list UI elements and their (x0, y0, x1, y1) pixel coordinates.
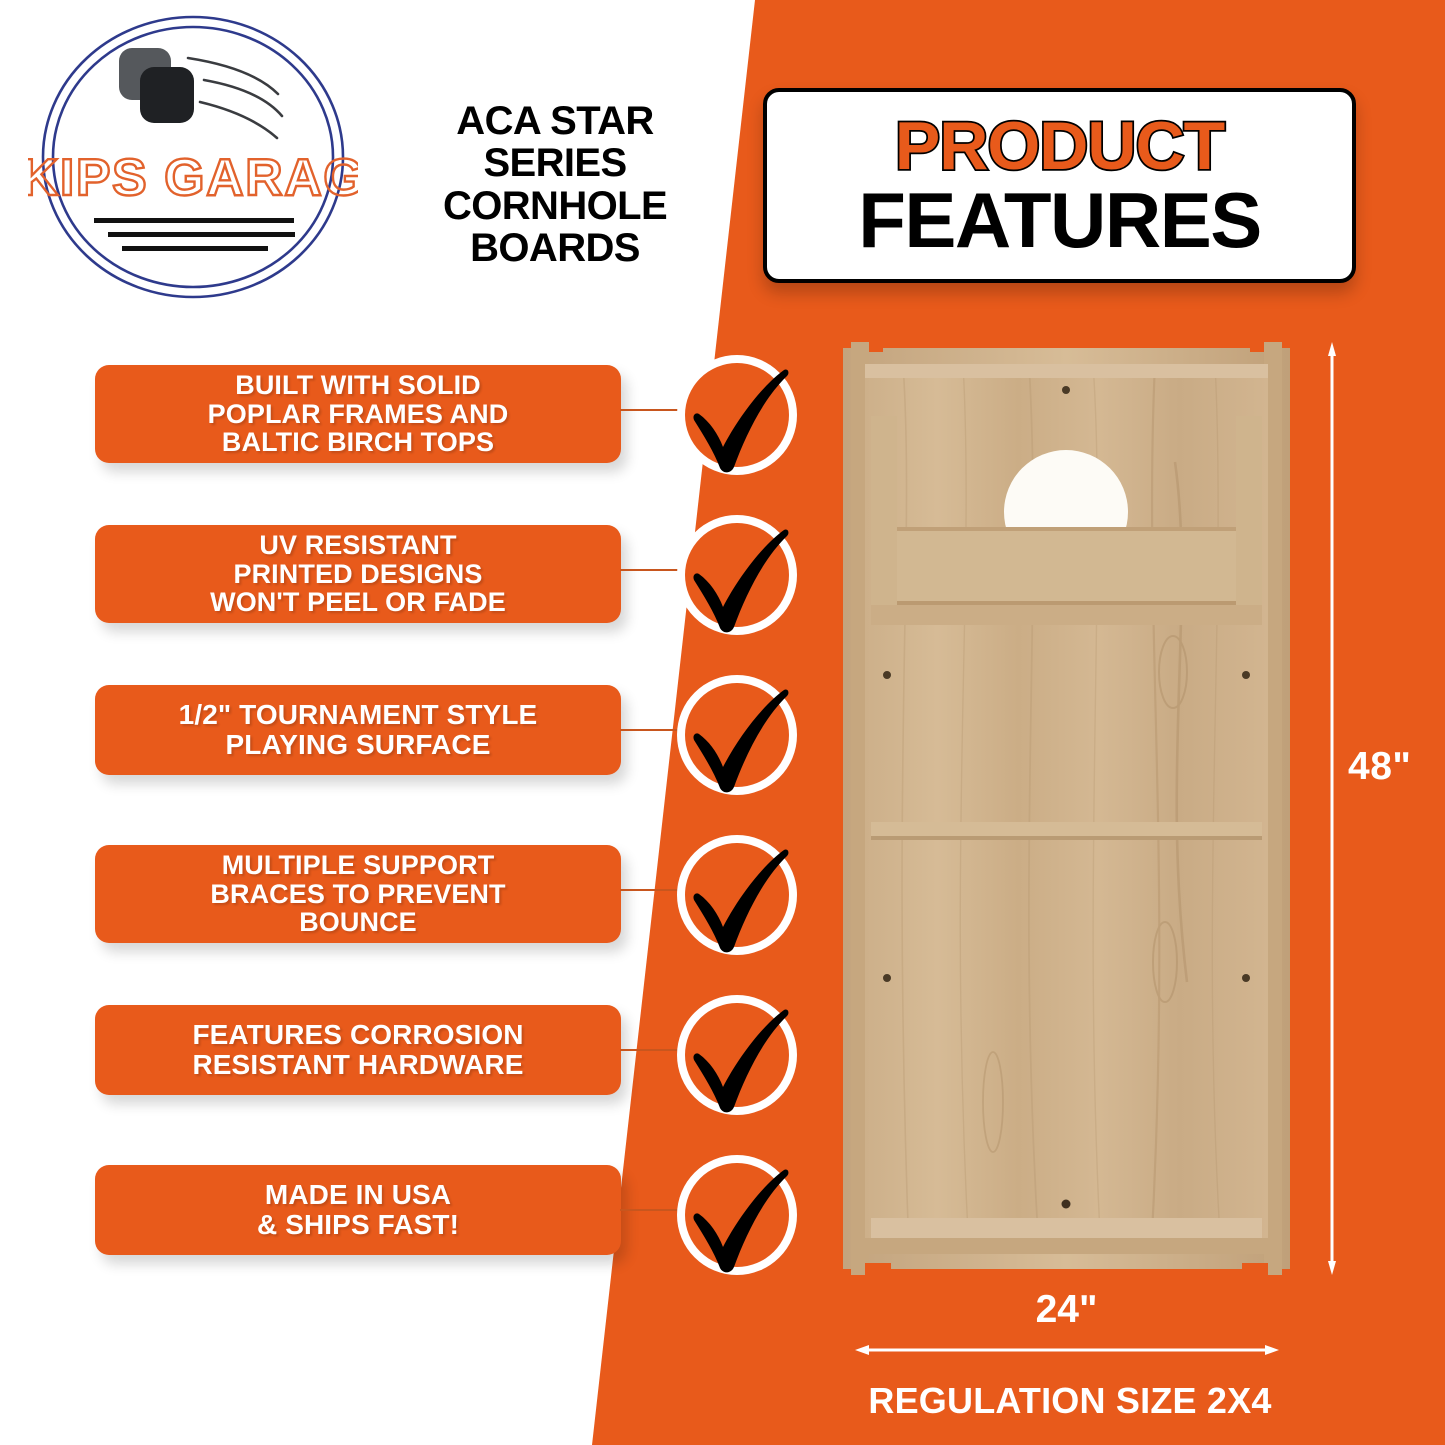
feature-row: FEATURES CORROSIONRESISTANT HARDWARE (0, 996, 830, 1104)
feature-row: MULTIPLE SUPPORTBRACES TO PREVENTBOUNCE (0, 836, 830, 944)
product-title-line-2: SERIES (395, 142, 715, 184)
cornhole-board-image (843, 342, 1290, 1275)
feature-pill[interactable]: MADE IN USA& SHIPS FAST! (95, 1165, 621, 1255)
feature-label: MULTIPLE SUPPORTBRACES TO PREVENTBOUNCE (210, 851, 505, 937)
height-dimension-label: 48" (1348, 745, 1411, 789)
feature-label: BUILT WITH SOLIDPOPLAR FRAMES ANDBALTIC … (208, 371, 509, 457)
product-title-line-4: BOARDS (395, 227, 715, 269)
width-dimension-arrow (855, 1345, 1279, 1355)
feature-row: UV RESISTANTPRINTED DESIGNSWON'T PEEL OR… (0, 516, 830, 624)
feature-row: BUILT WITH SOLIDPOPLAR FRAMES ANDBALTIC … (0, 356, 830, 464)
infographic-canvas: SKIPS GARAGE ACA STAR SERIES CORNHOLE BO… (0, 0, 1445, 1445)
feature-pill[interactable]: FEATURES CORROSIONRESISTANT HARDWARE (95, 1005, 621, 1095)
feature-pill[interactable]: 1/2" TOURNAMENT STYLEPLAYING SURFACE (95, 685, 621, 775)
feature-row: MADE IN USA& SHIPS FAST! (0, 1156, 830, 1264)
feature-label: FEATURES CORROSIONRESISTANT HARDWARE (192, 1020, 523, 1079)
product-title-line-3: CORNHOLE (395, 185, 715, 227)
feature-label: 1/2" TOURNAMENT STYLEPLAYING SURFACE (179, 700, 538, 759)
product-title: ACA STAR SERIES CORNHOLE BOARDS (395, 100, 715, 270)
svg-text:SKIPS GARAGE: SKIPS GARAGE (28, 149, 358, 207)
product-features-header: PRODUCT FEATURES (763, 88, 1356, 283)
check-icon (674, 352, 800, 478)
header-line-product: PRODUCT (895, 113, 1224, 180)
feature-pill[interactable]: BUILT WITH SOLIDPOPLAR FRAMES ANDBALTIC … (95, 365, 621, 463)
skips-garage-logo: SKIPS GARAGE (28, 10, 358, 305)
check-icon (674, 512, 800, 638)
height-dimension-arrow (1328, 342, 1336, 1275)
check-icon (674, 1152, 800, 1278)
feature-label: UV RESISTANTPRINTED DESIGNSWON'T PEEL OR… (210, 531, 506, 617)
check-icon (674, 832, 800, 958)
feature-pill[interactable]: MULTIPLE SUPPORTBRACES TO PREVENTBOUNCE (95, 845, 621, 943)
product-title-line-1: ACA STAR (395, 100, 715, 142)
feature-pill[interactable]: UV RESISTANTPRINTED DESIGNSWON'T PEEL OR… (95, 525, 621, 623)
width-dimension-label: 24" (843, 1288, 1290, 1332)
feature-label: MADE IN USA& SHIPS FAST! (257, 1180, 459, 1239)
check-icon (674, 672, 800, 798)
header-line-features: FEATURES (858, 182, 1261, 258)
check-icon (674, 992, 800, 1118)
regulation-size-caption: REGULATION SIZE 2X4 (820, 1380, 1320, 1422)
feature-row: 1/2" TOURNAMENT STYLEPLAYING SURFACE (0, 676, 830, 784)
